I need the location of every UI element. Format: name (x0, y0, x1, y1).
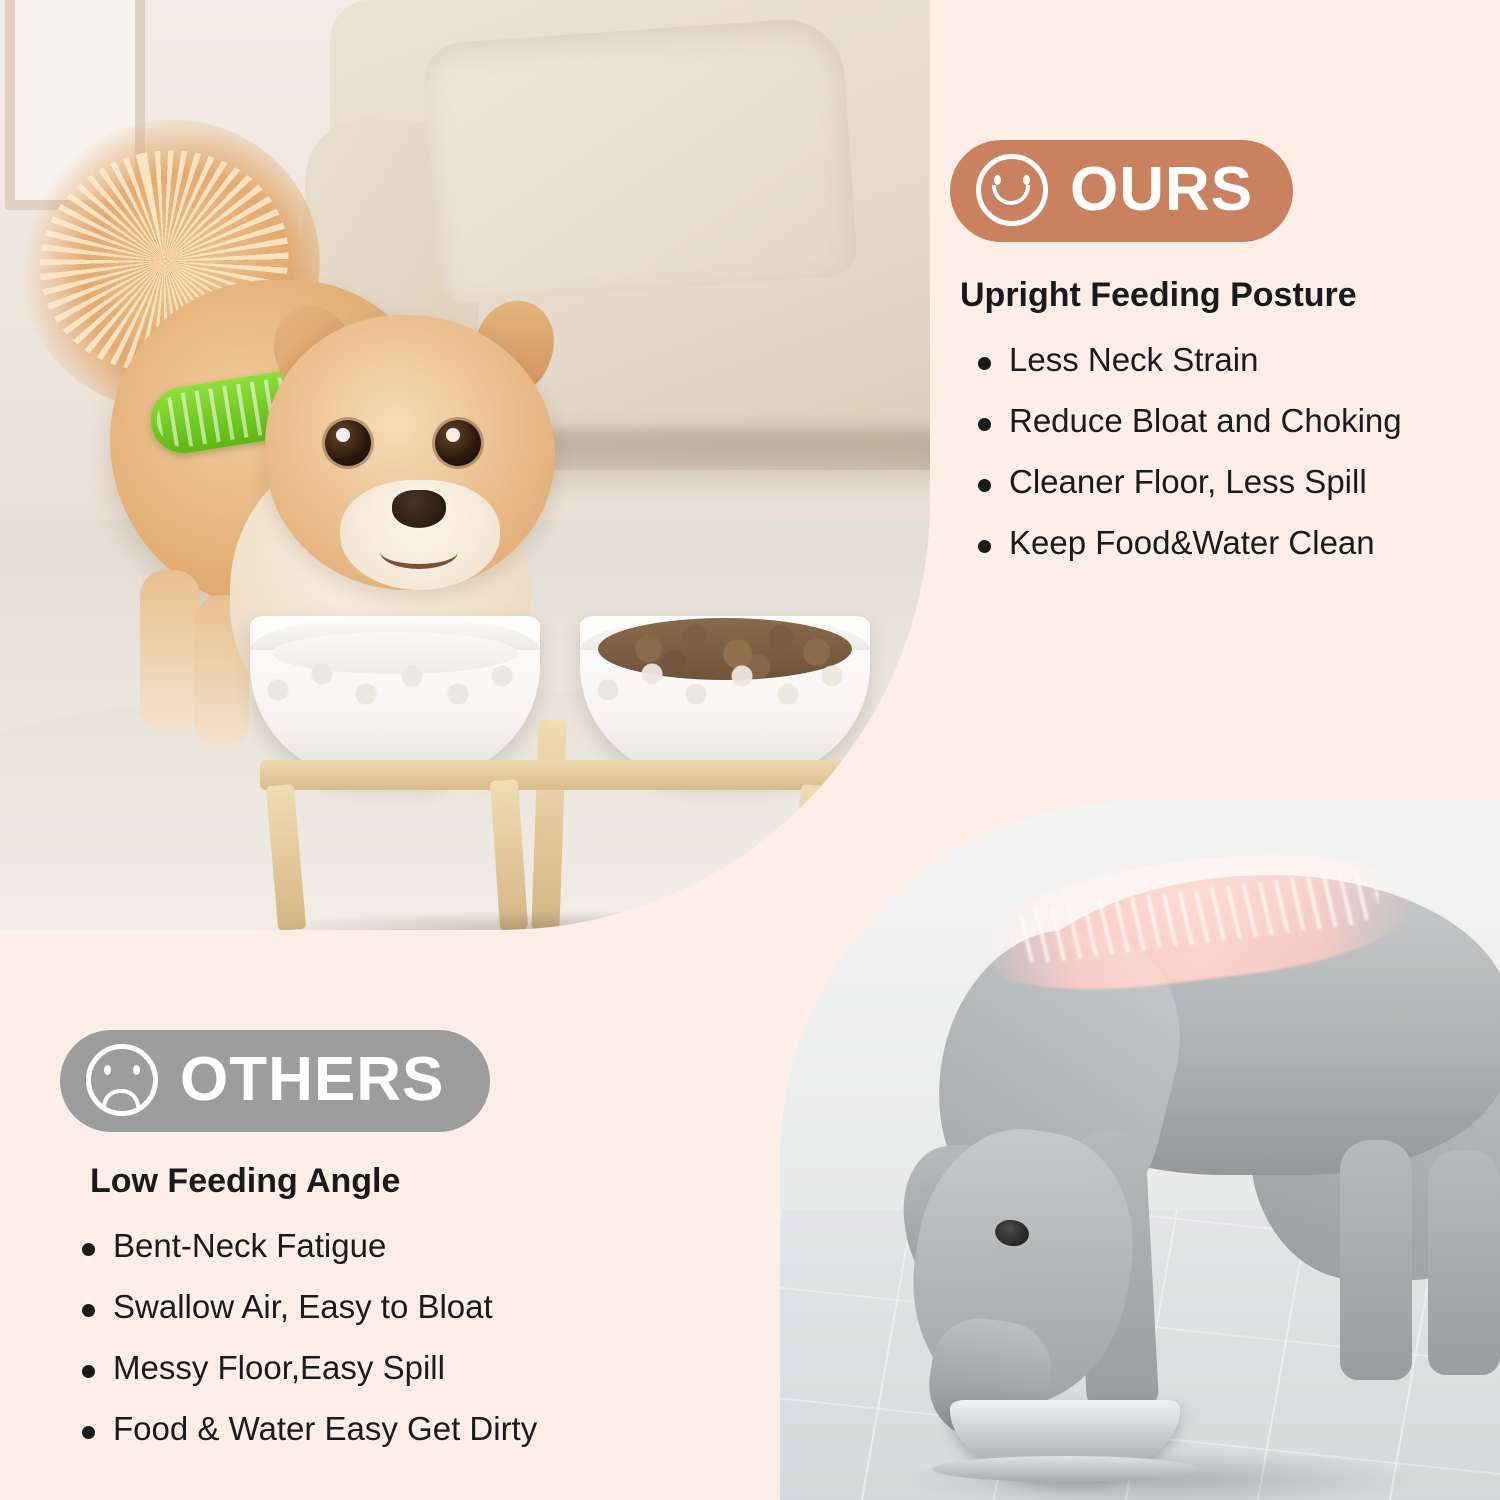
bullet-dot-icon (82, 1243, 95, 1256)
frowning-face-icon (86, 1044, 158, 1116)
dog-nose (392, 490, 446, 528)
comparison-photo-bottom-right (780, 800, 1500, 1500)
list-item: Messy Floor,Easy Spill (82, 1349, 680, 1388)
bullet-dot-icon (978, 357, 991, 370)
dog-mouth (380, 534, 458, 569)
smiley-eye-right (1023, 175, 1030, 185)
paw-print-pattern (266, 660, 524, 730)
list-item: Keep Food&Water Clean (978, 524, 1470, 563)
list-item: Swallow Air, Easy to Bloat (82, 1288, 680, 1327)
list-item: Reduce Bloat and Choking (978, 402, 1470, 441)
bullet-dot-icon (978, 540, 991, 553)
frown-eye-right (133, 1065, 140, 1075)
grey-dog-hind-leg-2 (1428, 1150, 1500, 1375)
ours-badge-label: OURS (1070, 159, 1253, 221)
bullet-dot-icon (978, 418, 991, 431)
bullet-text: Less Neck Strain (1009, 341, 1258, 380)
others-subtitle: Low Feeding Angle (90, 1162, 680, 1201)
bullet-text: Swallow Air, Easy to Bloat (113, 1288, 493, 1327)
ours-subtitle: Upright Feeding Posture (960, 276, 1470, 315)
infographic-page: OURS Upright Feeding Posture Less Neck S… (0, 0, 1500, 1500)
ours-bullet-list: Less Neck Strain Reduce Bloat and Chokin… (950, 341, 1470, 563)
ours-badge: OURS (950, 140, 1293, 242)
water-bowl (250, 616, 540, 781)
grey-dog-hind-leg-1 (1340, 1140, 1412, 1380)
smiley-mouth (992, 185, 1030, 205)
frown-eye-left (104, 1065, 111, 1075)
paw-print-pattern (596, 660, 854, 730)
stainless-steel-bowl (950, 1400, 1180, 1480)
smiley-eye-left (994, 175, 1001, 185)
bullet-dot-icon (82, 1426, 95, 1439)
list-item: Bent-Neck Fatigue (82, 1227, 680, 1266)
list-item: Less Neck Strain (978, 341, 1470, 380)
smiley-face-icon (976, 154, 1048, 226)
food-bowl (580, 616, 870, 781)
others-badge-label: OTHERS (180, 1049, 444, 1111)
frown-mouth (102, 1089, 140, 1107)
bullet-dot-icon (978, 479, 991, 492)
bullet-text: Reduce Bloat and Choking (1009, 402, 1402, 441)
list-item: Food & Water Easy Get Dirty (82, 1410, 680, 1449)
bullet-text: Cleaner Floor, Less Spill (1009, 463, 1367, 502)
others-bullet-list: Bent-Neck Fatigue Swallow Air, Easy to B… (60, 1227, 680, 1449)
dog-eye-right (435, 420, 481, 466)
ours-panel: OURS Upright Feeding Posture Less Neck S… (950, 140, 1470, 585)
product-photo-top-left (0, 0, 930, 930)
others-panel: OTHERS Low Feeding Angle Bent-Neck Fatig… (60, 1030, 680, 1471)
dog-eye-left (325, 420, 371, 466)
bullet-text: Food & Water Easy Get Dirty (113, 1410, 537, 1449)
others-badge: OTHERS (60, 1030, 490, 1132)
stand-leg-left (266, 784, 307, 930)
bullet-text: Bent-Neck Fatigue (113, 1227, 386, 1266)
bullet-text: Messy Floor,Easy Spill (113, 1349, 445, 1388)
dog-front-leg-left (140, 570, 200, 730)
bullet-text: Keep Food&Water Clean (1009, 524, 1375, 563)
bullet-dot-icon (82, 1365, 95, 1378)
list-item: Cleaner Floor, Less Spill (978, 463, 1470, 502)
bullet-dot-icon (82, 1304, 95, 1317)
bamboo-stand-bar (260, 760, 860, 790)
stand-leg-center (490, 779, 528, 930)
stand-leg-center-back (531, 720, 566, 930)
